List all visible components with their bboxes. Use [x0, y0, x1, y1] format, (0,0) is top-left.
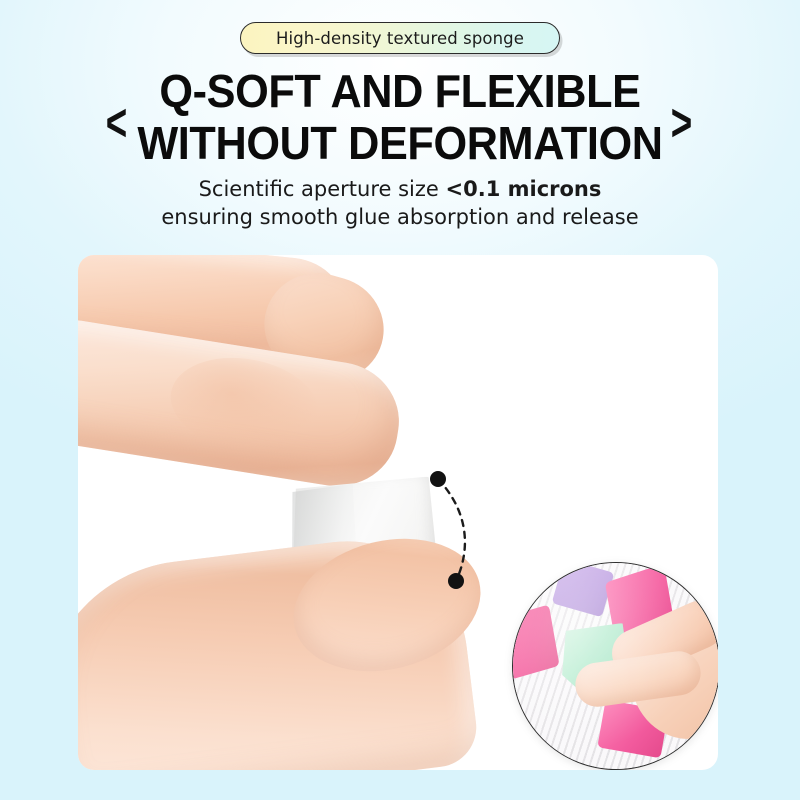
headline-line-2: WITHOUT DEFORMATION	[24, 120, 776, 166]
top-badge: High-density textured sponge	[240, 22, 560, 54]
subtitle-line-2: ensuring smooth glue absorption and rele…	[0, 204, 800, 232]
subtitle-emphasis-text: <0.1 microns	[446, 177, 602, 201]
subtitle-line-1: Scientific aperture size <0.1 microns	[0, 176, 800, 204]
product-photo-card	[78, 255, 718, 770]
inset-circle-photo	[512, 562, 718, 770]
dashed-arc-path	[438, 479, 465, 581]
subtitle-normal-text: Scientific aperture size	[199, 177, 446, 201]
arc-endpoint-dot-bottom	[448, 573, 464, 589]
page-title: Q-SOFT AND FLEXIBLE WITHOUT DEFORMATION	[0, 68, 800, 166]
product-poster: High-density textured sponge < > Q-SOFT …	[0, 0, 800, 800]
headline-line-1: Q-SOFT AND FLEXIBLE	[24, 68, 776, 114]
arc-endpoint-dot-top	[430, 471, 446, 487]
subtitle: Scientific aperture size <0.1 microns en…	[0, 176, 800, 232]
inset-highlight-sheen	[513, 563, 718, 769]
